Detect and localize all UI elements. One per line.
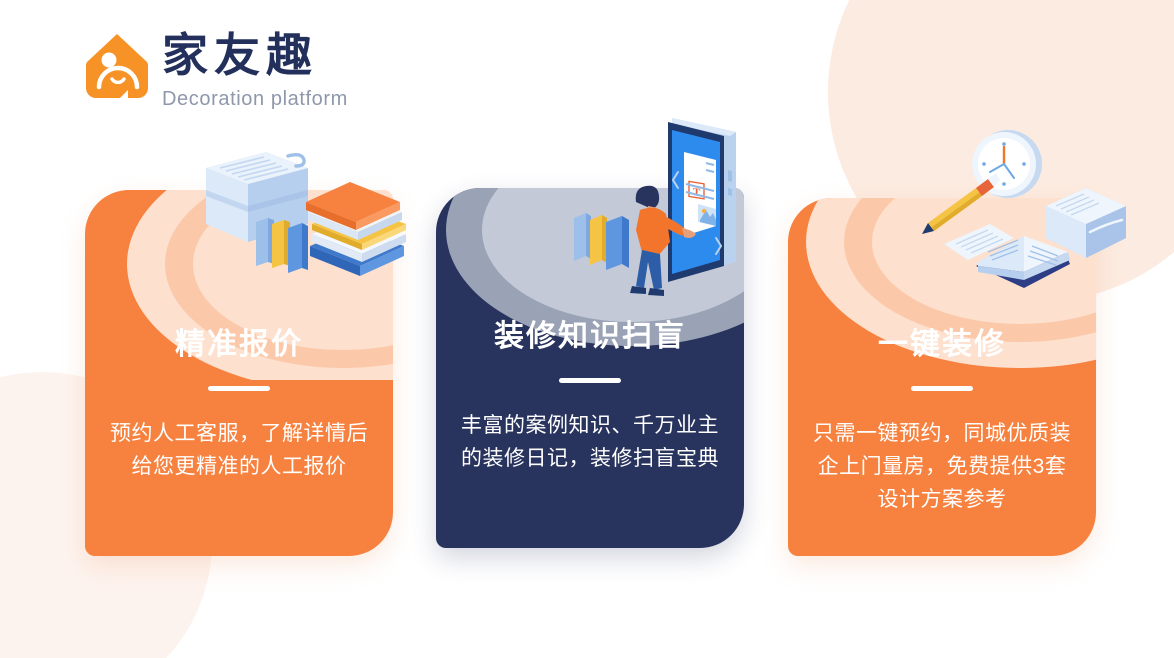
feature-card-quote[interactable]: 精准报价 预约人工客服，了解详情后给您更精准的人工报价 <box>85 190 393 556</box>
title-divider <box>208 386 270 391</box>
feature-card-title: 一键装修 <box>878 326 1006 364</box>
title-divider <box>559 378 621 383</box>
feature-card-knowledge-body: 装修知识扫盲 丰富的案例知识、千万业主的装修日记，装修扫盲宝典 <box>436 318 744 475</box>
feature-card-title: 装修知识扫盲 <box>494 318 686 356</box>
brand-title: 家友趣 <box>162 28 348 82</box>
feature-card-title: 精准报价 <box>175 326 303 364</box>
brand-logo[interactable]: 家友趣 Decoration platform <box>84 28 348 112</box>
slide-canvas: 家友趣 Decoration platform 精准报价 预约人工客服，了解详情… <box>0 0 1174 658</box>
feature-card-description: 丰富的案例知识、千万业主的装修日记，装修扫盲宝典 <box>459 409 721 475</box>
feature-card-knowledge[interactable]: 装修知识扫盲 丰富的案例知识、千万业主的装修日记，装修扫盲宝典 <box>436 188 744 548</box>
title-divider <box>911 386 973 391</box>
feature-card-quote-body: 精准报价 预约人工客服，了解详情后给您更精准的人工报价 <box>85 326 393 483</box>
feature-card-onekey-body: 一键装修 只需一键预约，同城优质装企上门量房，免费提供3套设计方案参考 <box>788 326 1096 516</box>
house-smile-icon <box>84 32 150 104</box>
feature-card-description: 只需一键预约，同城优质装企上门量房，免费提供3套设计方案参考 <box>811 417 1073 516</box>
feature-card-description: 预约人工客服，了解详情后给您更精准的人工报价 <box>108 417 370 483</box>
feature-card-onekey[interactable]: 一键装修 只需一键预约，同城优质装企上门量房，免费提供3套设计方案参考 <box>788 198 1096 556</box>
brand-subtitle: Decoration platform <box>162 86 348 112</box>
